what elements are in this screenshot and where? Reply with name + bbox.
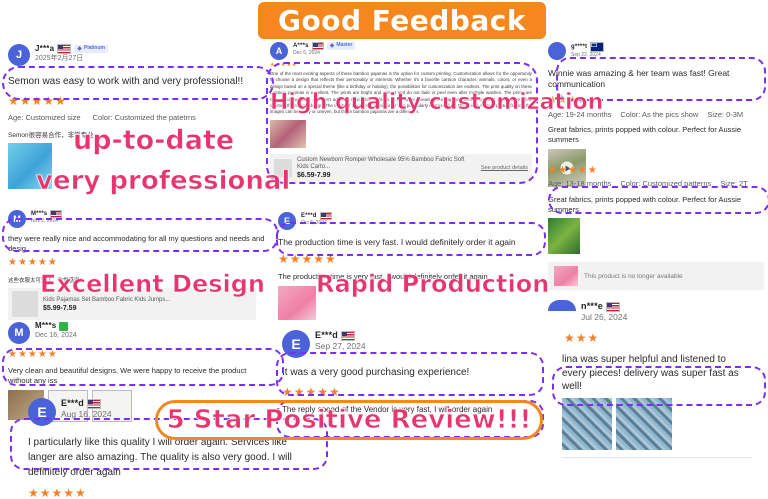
review-card-6: E E***d Oct 8, 2024 The production time …	[278, 212, 532, 320]
us-flag-icon	[320, 212, 332, 220]
see-product-details-link[interactable]: See product details	[481, 165, 528, 171]
review-3-header: g****t Sep 22, 2024	[548, 42, 764, 60]
annotation-very-professional: very professional	[36, 168, 290, 194]
meta-color: Color: Customized the patetrns	[93, 113, 196, 122]
product-price: $5.99-7.59	[43, 305, 170, 312]
product-title: Kids Pajamas Set Bamboo Fabric Kids Jump…	[43, 297, 170, 305]
five-star-positive-review-pill: 5 Star Positive Review!!!	[155, 400, 543, 440]
review-date: Dec 16, 2024	[35, 332, 77, 340]
star-rating: ★★★★★	[8, 350, 270, 360]
review-1-header: J J***a ◆ Platinum 2025年2月27日	[8, 44, 266, 66]
review-photo	[278, 286, 316, 320]
meta-color: Color: Customized patterns	[620, 179, 711, 188]
review-text: I particularly like this quality I will …	[28, 435, 300, 480]
reviewer-name: E***d	[301, 213, 317, 220]
good-feedback-banner: Good Feedback	[258, 2, 546, 39]
avatar: E	[28, 398, 56, 426]
us-flag-icon	[606, 302, 620, 312]
gem-icon: ◆	[77, 46, 82, 52]
review-text: Winnie was amazing & her team was fast! …	[548, 68, 764, 91]
annotation-excellent-design: Excellent Design	[40, 272, 265, 296]
us-flag-icon	[341, 331, 355, 341]
au-flag-icon	[590, 42, 604, 52]
review-date: Oct 8, 2024	[301, 221, 332, 227]
reviewer-name: E***d	[61, 399, 84, 409]
review-8-header: E E***d Sep 27, 2024	[282, 330, 532, 358]
review-5-header: M M***s Nov 2, 2024	[8, 210, 270, 228]
meta-color: Color: As the pics show	[620, 110, 698, 119]
reviewer-name: n***e	[581, 302, 603, 312]
review-date: Sep 22, 2024	[571, 53, 604, 59]
review-photo	[270, 120, 306, 148]
star-rating: ★★★★★	[278, 253, 532, 265]
master-badge: ◆ Master	[327, 42, 356, 50]
meta-age: Age: 13-18 months	[548, 179, 611, 188]
verified-badge-icon	[59, 322, 68, 331]
review-date: Aug 16, 2024	[61, 410, 112, 419]
review-date: Sep 27, 2024	[315, 342, 366, 351]
reviewer-name: A***s	[293, 43, 309, 50]
platinum-badge: ◆ Platinum	[74, 45, 108, 53]
review-text: Very clean and beautiful designs. We wer…	[8, 366, 270, 386]
us-flag-icon	[50, 210, 62, 218]
star-rating: ★★★★★	[8, 95, 266, 107]
avatar	[548, 300, 576, 311]
review-text: lina was super helpful and listened to e…	[562, 353, 752, 394]
review-10-header: n***e Jul 26, 2024	[548, 300, 764, 322]
product-thumbnail	[12, 291, 38, 317]
product-thumbnail	[554, 266, 578, 286]
avatar: M	[8, 322, 30, 344]
star-rating: ★★★★★	[282, 386, 532, 398]
reviewer-name: M***s	[31, 211, 47, 218]
star-rating: ★★★	[564, 332, 764, 344]
review-card-5: M M***s Nov 2, 2024 they were really nic…	[8, 210, 270, 320]
avatar: E	[282, 330, 310, 358]
product-unavailable-text: This product is no longer available	[584, 273, 683, 280]
avatar: J	[8, 44, 30, 66]
meta-size: Size: 0-3M	[707, 110, 743, 119]
five-star-positive-review-text: 5 Star Positive Review!!!	[167, 405, 532, 435]
feedback-collage: J J***a ◆ Platinum 2025年2月27日 Semon was …	[0, 0, 768, 499]
review-text: The production time is very fast. I woul…	[278, 237, 532, 248]
product-title: Custom Newborn Romper Wholesale 95% Bamb…	[297, 157, 476, 173]
review-text: It was a very good purchasing experience…	[282, 366, 532, 380]
review-7-header: M M***s Dec 16, 2024	[8, 322, 270, 344]
review-date: 2025年2月27日	[35, 55, 108, 63]
reviewer-name: E***d	[315, 331, 338, 341]
avatar: A	[270, 42, 288, 60]
review-date: Nov 2, 2024	[31, 219, 62, 225]
annotation-up-to-date: up-to-date	[73, 127, 234, 154]
reviewer-name: J***a	[35, 45, 54, 54]
review-2-header: A A***s ◆ Master Dec 6, 2024	[270, 42, 532, 60]
meta-age: Age: Customized size	[8, 113, 81, 122]
reviewer-name: g****t	[571, 44, 587, 51]
meta-size: Size: 2T	[720, 179, 748, 188]
review-text-secondary: Great fabrics, prints popped with colour…	[548, 125, 764, 145]
review-date: Jul 26, 2024	[581, 313, 627, 322]
avatar: E	[278, 212, 296, 230]
product-price: $6.59-7.99	[297, 172, 476, 179]
review-card-10: n***e Jul 26, 2024 ★★★ lina was super he…	[548, 300, 764, 458]
avatar	[548, 42, 566, 60]
star-rating: ★★★★★	[8, 258, 270, 268]
divider	[562, 457, 752, 458]
review-text: Semon was easy to work with and very pro…	[8, 75, 266, 89]
star-rating: ★★★★★	[28, 487, 328, 499]
us-flag-icon	[57, 44, 71, 54]
avatar: M	[8, 210, 26, 228]
review-6-header: E E***d Oct 8, 2024	[278, 212, 532, 230]
review-photo	[562, 398, 612, 450]
us-flag-icon	[312, 42, 324, 50]
reviewer-name: M***s	[35, 322, 56, 331]
annotation-high-quality-customization: High quality customization	[270, 92, 603, 114]
review-text: Great fabrics, prints popped with colour…	[548, 195, 764, 215]
review-text: they were really nice and accommodating …	[8, 234, 270, 254]
review-card-4: ★★★★★ Age: 13-18 months Color: Customize…	[548, 166, 764, 254]
star-rating: ★★★★★	[270, 63, 532, 68]
review-photo	[548, 218, 580, 254]
product-strip[interactable]: Custom Newborn Romper Wholesale 95% Bamb…	[270, 154, 532, 183]
product-unavailable-card: This product is no longer available	[548, 262, 764, 290]
annotation-rapid-production: Rapid Production	[316, 272, 549, 296]
product-unavailable-strip: This product is no longer available	[548, 262, 764, 290]
review-photo	[616, 398, 672, 450]
review-date: Dec 6, 2024	[293, 51, 355, 57]
gem-icon: ◆	[330, 43, 335, 49]
us-flag-icon	[87, 399, 101, 409]
star-rating: ★★★★★	[548, 166, 764, 176]
